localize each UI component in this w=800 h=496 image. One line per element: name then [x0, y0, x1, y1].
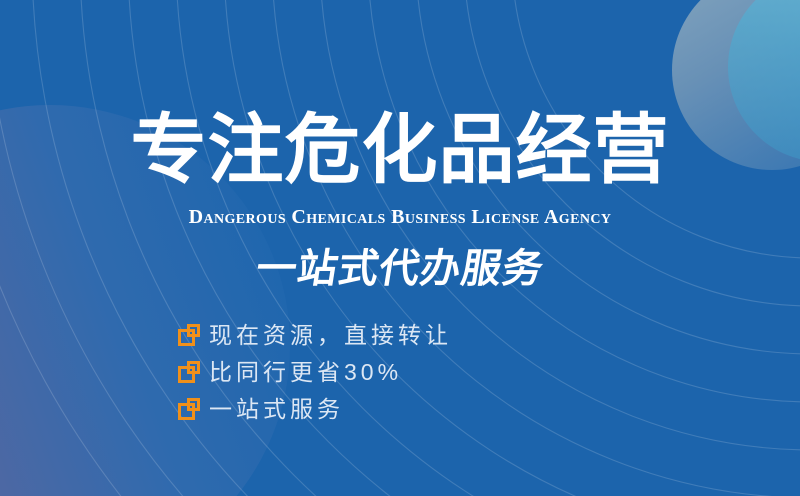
list-item-label: 现在资源，直接转让: [209, 321, 452, 349]
overlapping-squares-icon: [178, 361, 200, 383]
list-item-label: 一站式服务: [209, 395, 344, 423]
overlapping-squares-icon: [178, 398, 200, 420]
list-item: 一站式服务: [178, 390, 452, 427]
promo-banner: 专注危化品经营 Dangerous Chemicals Business Lic…: [0, 0, 800, 496]
banner-content: 专注危化品经营 Dangerous Chemicals Business Lic…: [0, 0, 800, 496]
list-item: 比同行更省30%: [178, 353, 452, 390]
english-subtitle: Dangerous Chemicals Business License Age…: [0, 205, 800, 229]
list-item-label: 比同行更省30%: [209, 358, 402, 386]
overlapping-squares-icon: [178, 324, 200, 346]
feature-list: 现在资源，直接转让 比同行更省30% 一站式服务: [178, 316, 452, 427]
page-title: 专注危化品经营: [0, 108, 800, 194]
list-item: 现在资源，直接转让: [178, 316, 452, 353]
secondary-headline: 一站式代办服务: [0, 245, 800, 293]
